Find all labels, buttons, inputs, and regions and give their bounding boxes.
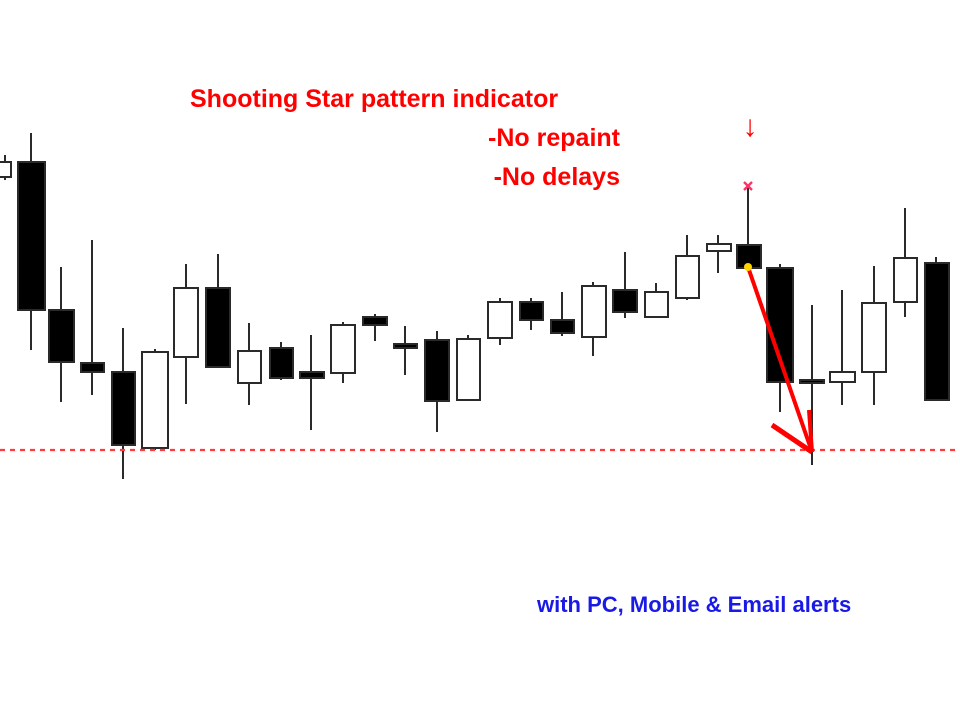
candle-body	[425, 340, 449, 401]
candle	[894, 208, 917, 317]
candle-body	[457, 339, 480, 400]
candle	[81, 240, 104, 395]
candle-body	[112, 372, 135, 445]
feature-no-repaint: -No repaint	[190, 119, 620, 158]
candle	[676, 235, 699, 300]
candle	[270, 342, 293, 380]
candle-body	[174, 288, 198, 357]
candle-body	[800, 380, 824, 383]
candle	[18, 133, 45, 350]
candle-body	[707, 244, 731, 251]
candle-body	[270, 348, 293, 378]
candle-body	[520, 302, 543, 320]
candle	[0, 155, 11, 180]
candle	[707, 235, 731, 273]
candle-body	[488, 302, 512, 338]
candle-body	[830, 372, 855, 382]
candle-body	[331, 325, 355, 373]
candle-body	[394, 344, 417, 348]
candle	[925, 257, 949, 400]
candlestick-chart-canvas: Shooting Star pattern indicator -No repa…	[0, 0, 960, 720]
candle-body	[582, 286, 606, 337]
page-title: Shooting Star pattern indicator	[190, 80, 620, 119]
candle-body	[613, 290, 637, 312]
candle	[862, 266, 886, 405]
candle	[300, 335, 324, 430]
candle-body	[551, 320, 574, 333]
candle-body	[300, 372, 324, 378]
down-arrow-icon: ↓	[738, 112, 762, 142]
candle-body	[676, 256, 699, 298]
candle-body	[142, 352, 168, 448]
candle	[457, 335, 480, 400]
candle	[645, 283, 668, 317]
candle	[551, 292, 574, 336]
candle-body	[894, 258, 917, 302]
candle	[331, 322, 355, 383]
feature-no-delays: -No delays	[190, 158, 620, 197]
signal-dot	[744, 263, 752, 271]
candle-body	[862, 303, 886, 372]
candle-body	[0, 162, 11, 177]
headline-block: Shooting Star pattern indicator -No repa…	[190, 80, 620, 197]
candle-body	[238, 351, 261, 383]
candle	[582, 282, 606, 356]
candle	[520, 298, 543, 330]
candle	[206, 254, 230, 367]
candle	[142, 349, 168, 450]
candle-body	[206, 288, 230, 367]
candle-body	[81, 363, 104, 372]
candle-body	[18, 162, 45, 310]
candle-body	[925, 263, 949, 400]
candle-body	[363, 317, 387, 325]
candle	[613, 252, 637, 318]
candle	[174, 264, 198, 404]
candle	[49, 267, 74, 402]
candle	[394, 326, 417, 375]
candle-body	[49, 310, 74, 362]
candle-body	[645, 292, 668, 317]
candle	[425, 331, 449, 432]
candle	[830, 290, 855, 405]
candle	[238, 323, 261, 405]
candle	[488, 298, 512, 345]
candle	[737, 187, 761, 270]
candle	[363, 314, 387, 341]
candle	[112, 328, 135, 479]
alerts-note: with PC, Mobile & Email alerts	[537, 591, 851, 619]
